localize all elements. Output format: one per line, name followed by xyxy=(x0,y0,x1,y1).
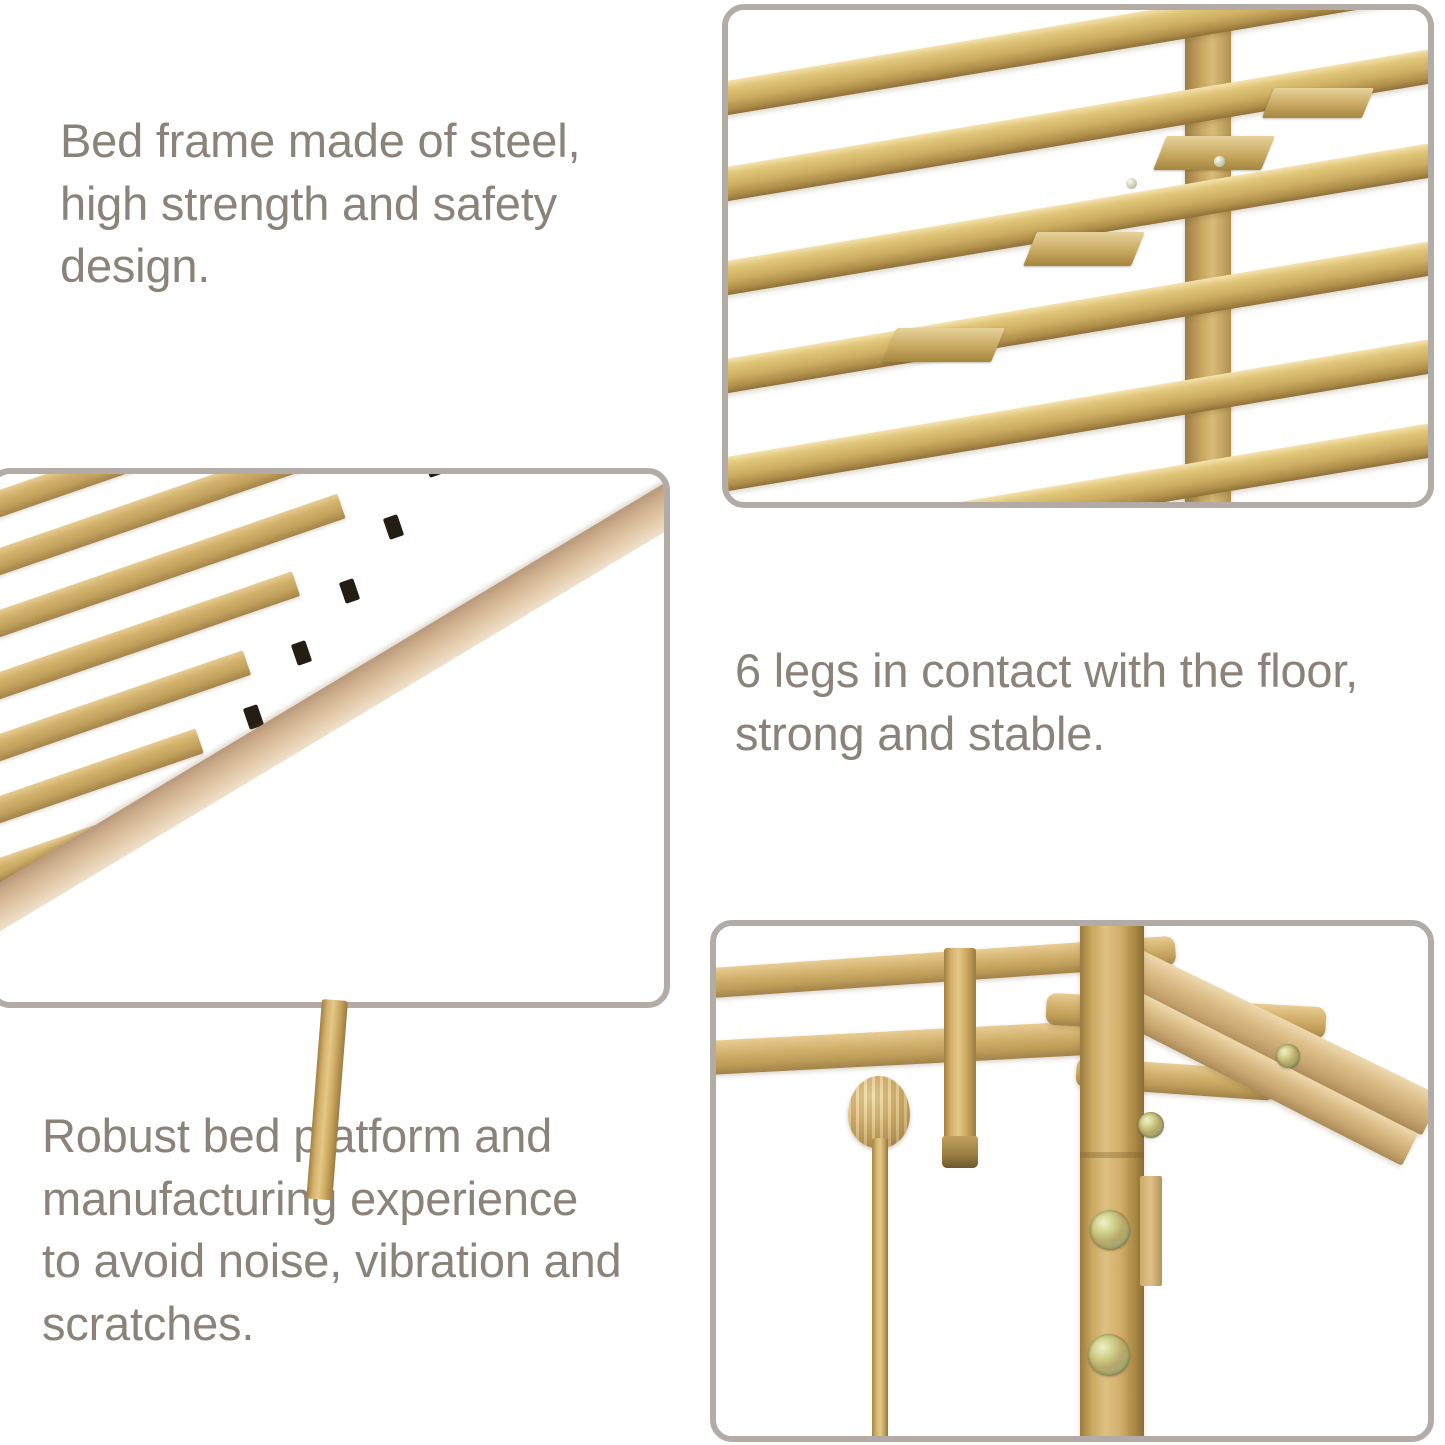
slat-bracket xyxy=(1023,232,1145,266)
slat-bracket xyxy=(883,328,1005,362)
slat-bracket xyxy=(1262,88,1374,118)
screw xyxy=(1090,1210,1130,1250)
slat-end-cap xyxy=(423,474,444,478)
slat-end-cap xyxy=(339,578,360,604)
slat-end-cap xyxy=(383,514,404,540)
frame-corner-image xyxy=(0,474,664,1002)
infographic-canvas: Bed frame made of steel, high strength a… xyxy=(0,0,1445,1445)
photo-panel-frame-corner xyxy=(0,468,670,1008)
slats-closeup-image xyxy=(728,10,1428,502)
finial-rod xyxy=(872,1138,888,1436)
feature-text-six-legs: 6 legs in contact with the floor, strong… xyxy=(735,640,1435,765)
rail-connector xyxy=(944,948,976,1168)
feature-text-steel-frame: Bed frame made of steel, high strength a… xyxy=(60,110,670,298)
screw xyxy=(1138,1112,1164,1138)
bracket-tab xyxy=(1140,1176,1162,1286)
leg-joint-image xyxy=(716,926,1428,1436)
slat-bracket xyxy=(1153,136,1275,170)
connector-foot-cap xyxy=(942,1136,978,1168)
screw xyxy=(1276,1044,1300,1068)
slat-end-cap xyxy=(291,640,312,666)
post-joint-seam xyxy=(1080,1152,1144,1158)
photo-panel-slats-closeup xyxy=(722,4,1434,508)
frame-rail xyxy=(716,1019,1127,1075)
screw xyxy=(1214,156,1225,167)
screw xyxy=(1126,178,1137,189)
photo-panel-leg-joint xyxy=(710,920,1434,1442)
screw xyxy=(1088,1334,1130,1376)
feature-text-robust-platform: Robust bed platform and manufacturing ex… xyxy=(42,1105,682,1355)
